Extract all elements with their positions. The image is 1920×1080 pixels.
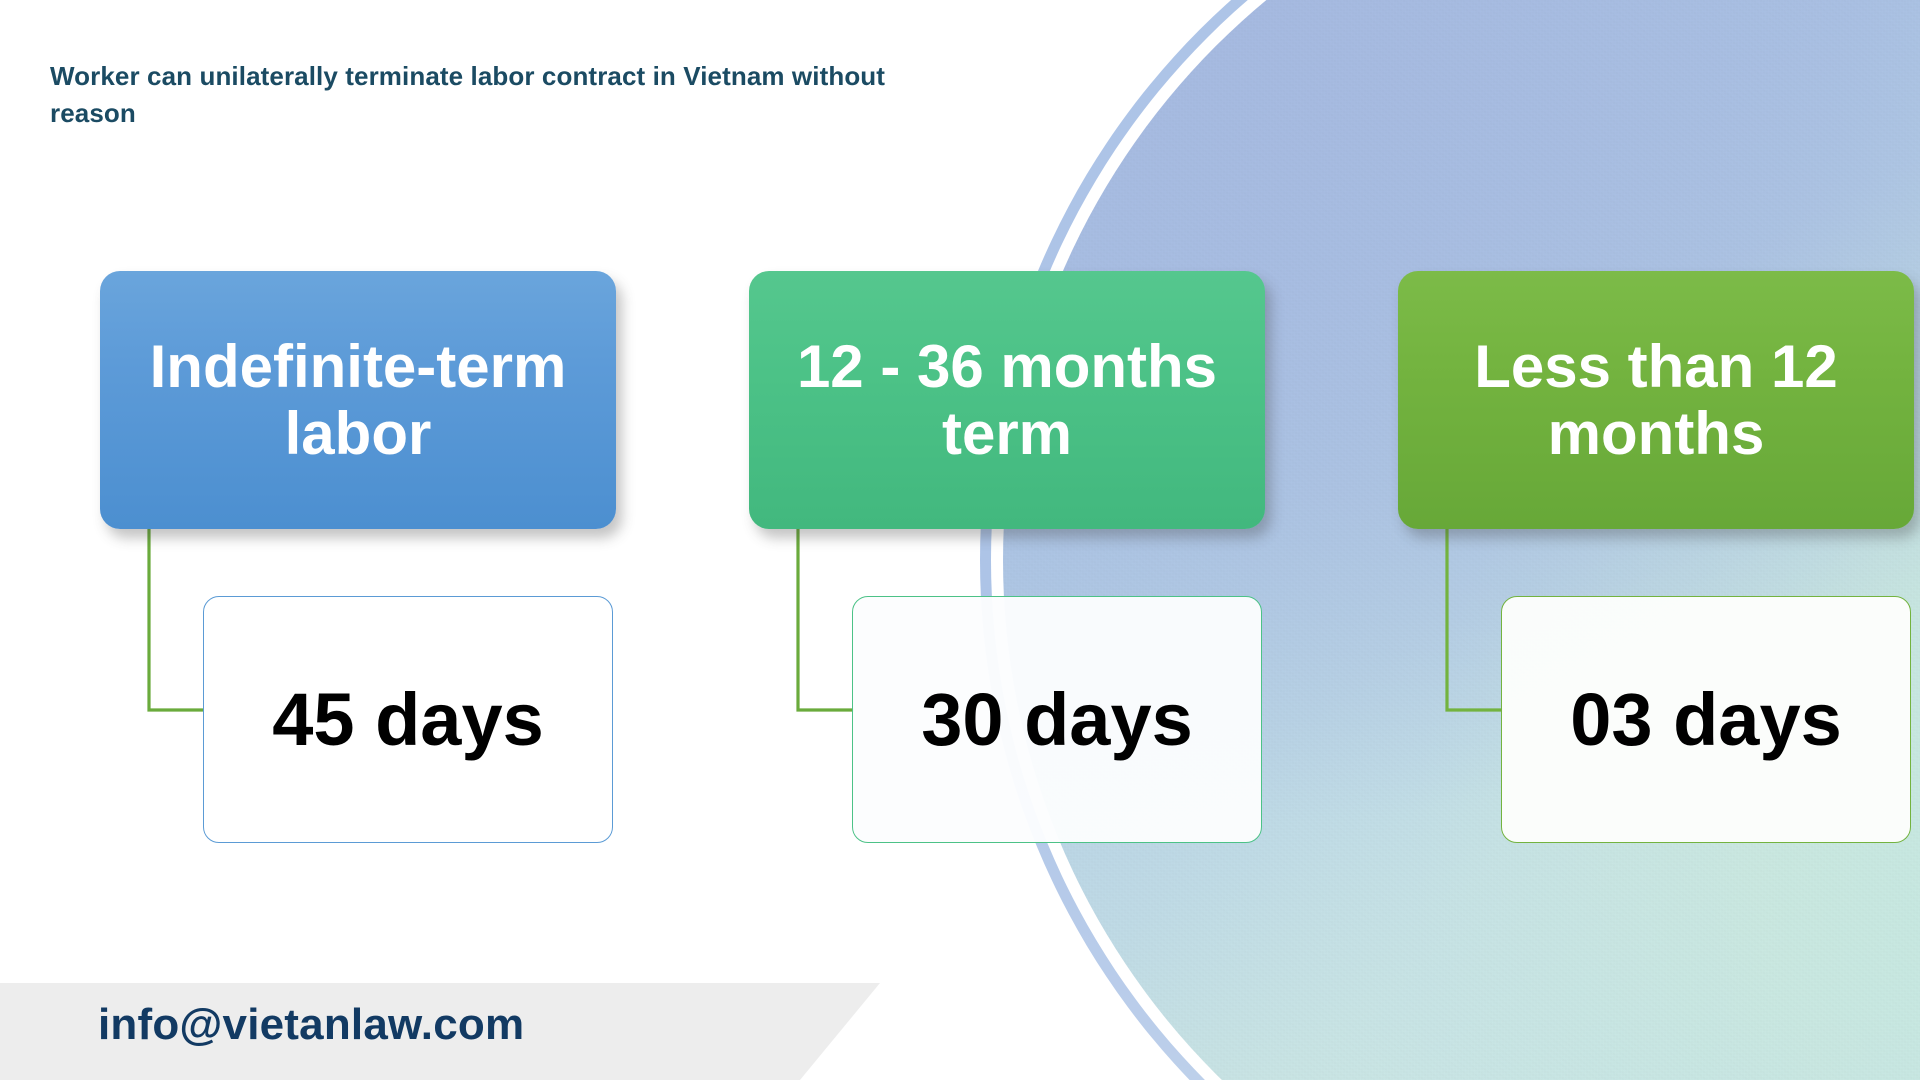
watercolor-circle — [1003, 0, 1920, 1080]
contract-type-label: Less than 12 months — [1414, 333, 1898, 467]
contract-type-card-indefinite-term[interactable]: Indefinite-term labor — [100, 271, 616, 529]
infographic-canvas: Worker can unilaterally terminate labor … — [0, 0, 1920, 1080]
contract-type-card-less-than-12-months[interactable]: Less than 12 months — [1398, 271, 1914, 529]
contract-type-card-12-36-months[interactable]: 12 - 36 months term — [749, 271, 1265, 529]
watercolor-arc-gap — [991, 0, 1920, 1080]
notice-period-box-12-36-months[interactable]: 30 days — [852, 596, 1262, 843]
contract-type-label: 12 - 36 months term — [765, 333, 1249, 467]
connector-path-3 — [1447, 529, 1503, 710]
page-title: Worker can unilaterally terminate labor … — [50, 58, 920, 132]
contact-email[interactable]: info@vietanlaw.com — [98, 1000, 524, 1050]
connector-path-2 — [798, 529, 854, 710]
watercolor-texture — [1003, 0, 1920, 1080]
notice-period-box-less-than-12-months[interactable]: 03 days — [1501, 596, 1911, 843]
background-decoration — [0, 0, 1920, 1080]
notice-period-box-indefinite-term[interactable]: 45 days — [203, 596, 613, 843]
notice-period-value: 03 days — [1570, 677, 1842, 762]
notice-period-value: 30 days — [921, 677, 1193, 762]
contract-type-label: Indefinite-term labor — [116, 333, 600, 467]
connector-lines — [0, 0, 1920, 1080]
connector-path-1 — [149, 529, 205, 710]
watercolor-outer-arc — [980, 0, 1920, 1080]
notice-period-value: 45 days — [272, 677, 544, 762]
